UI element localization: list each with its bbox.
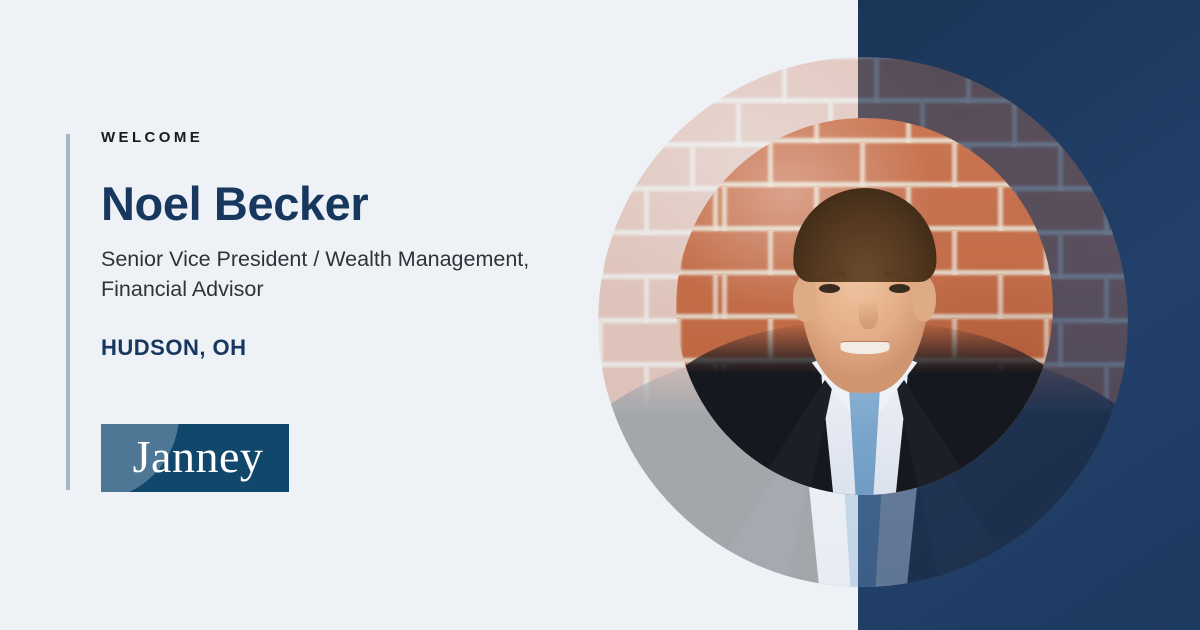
advisor-name: Noel Becker [101,179,621,228]
advisor-location: HUDSON, OH [101,335,621,361]
portrait-photo [676,118,1053,495]
janney-logo[interactable]: Janney [101,424,289,492]
eye-right [889,284,909,293]
eyebrow-right [883,271,913,278]
advisor-info-block: WELCOME Noel Becker Senior Vice Presiden… [101,130,621,361]
portrait-scene [676,118,1053,495]
advisor-welcome-card: WELCOME Noel Becker Senior Vice Presiden… [0,0,1200,630]
welcome-eyebrow: WELCOME [101,130,621,145]
janney-wordmark: Janney [101,424,289,492]
ear-right [912,276,937,321]
eye-left [819,284,839,293]
advisor-title: Senior Vice President / Wealth Managemen… [101,245,581,304]
vertical-accent-rule [66,134,70,490]
mouth [840,342,889,354]
ear-left [793,276,818,321]
eyebrow-left [815,271,845,278]
nose [859,299,878,329]
